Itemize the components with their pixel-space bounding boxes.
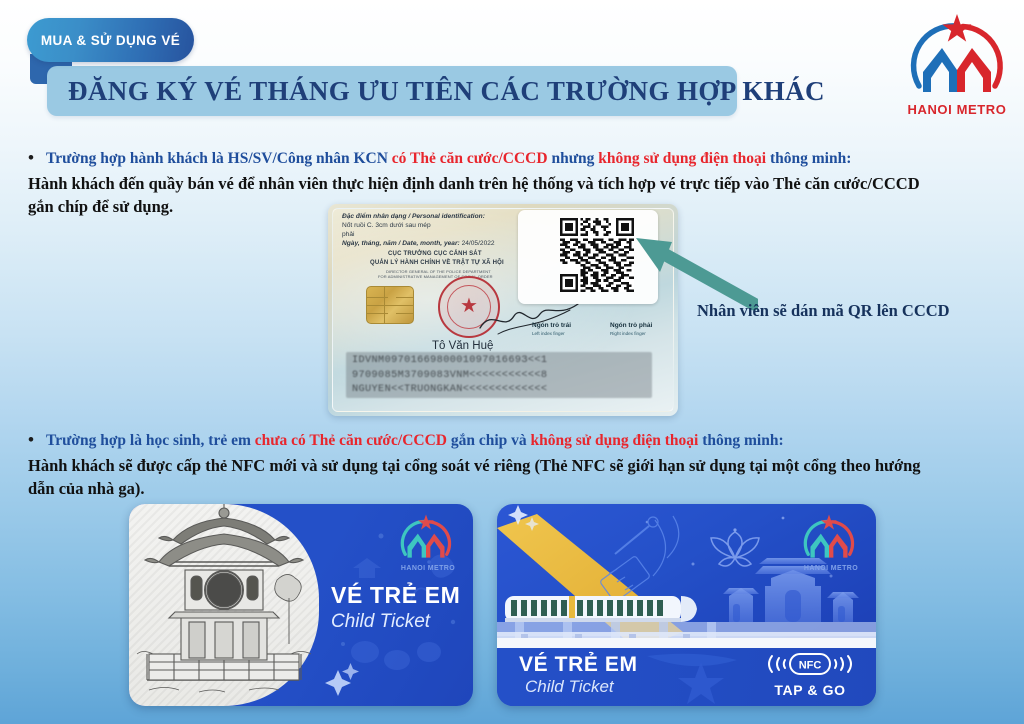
cccd-left-finger-label: Ngón trỏ trái	[532, 322, 571, 329]
cccd-identifying-mark-line-1: Nốt ruồi C. 3cm dưới sau mép	[342, 222, 431, 229]
cccd-chip-icon	[366, 286, 414, 324]
cccd-id-card-image: Đặc điểm nhân dạng / Personal identifica…	[328, 204, 678, 416]
khue-van-cac-pavilion-icon	[129, 504, 319, 706]
hanoi-metro-logo: HANOI METRO	[904, 12, 1010, 124]
cccd-issue-date-label: Ngày, tháng, năm / Date, month, year:	[342, 240, 460, 247]
nfc-wave-icon: NFC	[762, 653, 858, 675]
bullet-1-seg-3: không sử dụng điện thoại	[598, 150, 770, 167]
bullet-2-seg-1: chưa có Thẻ căn cước/CCCD	[255, 432, 451, 449]
bullet-2-body-line-2: dẫn của nhà ga).	[28, 478, 921, 501]
cccd-mrz-line-2: 9709085M3709083VNM<<<<<<<<<<<8	[352, 369, 646, 384]
qr-pointer-arrow-icon	[628, 228, 758, 312]
bullet-1-seg-4: thông minh:	[770, 150, 851, 167]
bullet-2-seg-4: thông minh:	[702, 432, 783, 449]
child-ticket-temple-card: HANOI METRO VÉ TRẺ EM Child Ticket	[129, 504, 473, 706]
ticket-title-vi: VÉ TRẺ EM	[331, 582, 471, 609]
section-tab-mua-su-dung-ve[interactable]: MUA & SỬ DỤNG VÉ	[27, 18, 194, 62]
bullet-2-seg-2: gắn chip và	[451, 432, 531, 449]
tap-and-go-label: TAP & GO	[762, 682, 858, 698]
qr-annotation-text: Nhân viên sẽ dán mã QR lên CCCD	[697, 301, 950, 321]
nfc-ticket-title-vi: VÉ TRẺ EM	[519, 653, 638, 677]
ticket-title-en: Child Ticket	[331, 611, 471, 633]
bullet-2-seg-3: không sử dụng điện thoại	[531, 432, 703, 449]
hanoi-metro-logo-text: HANOI METRO	[907, 102, 1006, 117]
bullet-1-body-line-1: Hành khách đến quầy bán vé để nhân viên …	[28, 173, 920, 196]
cccd-authority-line-2: QUẢN LÝ HÀNH CHÍNH VỀ TRẬT TỰ XÃ HỘI	[370, 260, 504, 266]
cccd-issue-date-value: 24/05/2022	[460, 240, 495, 247]
bullet-2-body-line-1: Hành khách sẽ được cấp thẻ NFC mới và sử…	[28, 455, 921, 478]
nfc-ticket-title-en: Child Ticket	[525, 677, 614, 697]
svg-text:NFC: NFC	[799, 660, 822, 672]
cccd-holder-name: Tô Văn Huệ	[432, 340, 493, 352]
slide-canvas: MUA & SỬ DỤNG VÉ ĐĂNG KÝ VÉ THÁNG ƯU TIÊ…	[0, 0, 1024, 724]
nfc-ticket-hanoi-metro-logo: HANOI METRO	[800, 514, 862, 572]
cccd-right-finger-sublabel: Right index finger	[610, 331, 646, 336]
cccd-mrz-block: IDVNM097016698000109701669З<<1 9709085M3…	[346, 352, 652, 398]
cccd-identifying-mark-line-2: phải	[342, 231, 354, 238]
cccd-mrz-line-3: NGUYEN<<TRUONGKAN<<<<<<<<<<<<<	[352, 383, 646, 398]
bullet-1-seg-1: có Thẻ căn cước/CCCD	[392, 150, 552, 167]
child-ticket-nfc-card: VÉ TRẺ EM Child Ticket NFC TAP & GO	[497, 504, 876, 706]
bullet-1-seg-2: nhưng	[551, 150, 598, 167]
cccd-issue-date: Ngày, tháng, năm / Date, month, year: 24…	[342, 240, 495, 247]
cccd-authority-line-1: CỤC TRƯỞNG CỤC CẢNH SÁT	[388, 251, 482, 257]
ticket-hanoi-metro-logo: HANOI METRO	[397, 514, 459, 572]
ticket-logo-text: HANOI METRO	[397, 565, 459, 572]
nfc-ticket-logo-text: HANOI METRO	[800, 565, 862, 572]
ticket-metro-logo-icon	[397, 514, 455, 562]
bullet-marker: •	[28, 428, 46, 451]
page-title: ĐĂNG KÝ VÉ THÁNG ƯU TIÊN CÁC TRƯỜNG HỢP …	[68, 76, 825, 107]
bullet-block-2: •Trường hợp là học sinh, trẻ em chưa có …	[28, 428, 921, 501]
qr-code-icon	[560, 218, 634, 292]
slide-title-bar: ĐĂNG KÝ VÉ THÁNG ƯU TIÊN CÁC TRƯỜNG HỢP …	[47, 66, 737, 116]
cccd-signature	[478, 298, 583, 340]
nfc-ticket-metro-logo-icon	[800, 514, 858, 562]
bullet-2-heading: •Trường hợp là học sinh, trẻ em chưa có …	[28, 428, 921, 451]
cccd-personal-identification-label: Đặc điểm nhân dạng / Personal identifica…	[342, 213, 485, 220]
cccd-mrz-line-1: IDVNM097016698000109701669З<<1	[352, 354, 646, 369]
bullet-1-seg-0: Trường hợp hành khách là HS/SV/Công nhân…	[46, 150, 392, 167]
nfc-white-divider	[497, 638, 876, 648]
cccd-right-finger-label: Ngón trỏ phải	[610, 322, 652, 329]
ticket-title-group: VÉ TRẺ EM Child Ticket	[331, 582, 471, 633]
nfc-tap-and-go-badge: NFC TAP & GO	[762, 653, 858, 698]
section-tab-label: MUA & SỬ DỤNG VÉ	[41, 33, 180, 48]
bullet-2-seg-0: Trường hợp là học sinh, trẻ em	[46, 432, 255, 449]
cccd-left-finger-sublabel: Left index finger	[532, 331, 565, 336]
hanoi-metro-logo-icon	[905, 12, 1009, 104]
temple-of-literature-illustration	[129, 504, 319, 706]
bullet-marker: •	[28, 146, 46, 169]
bullet-1-heading: •Trường hợp hành khách là HS/SV/Công nhâ…	[28, 146, 920, 169]
